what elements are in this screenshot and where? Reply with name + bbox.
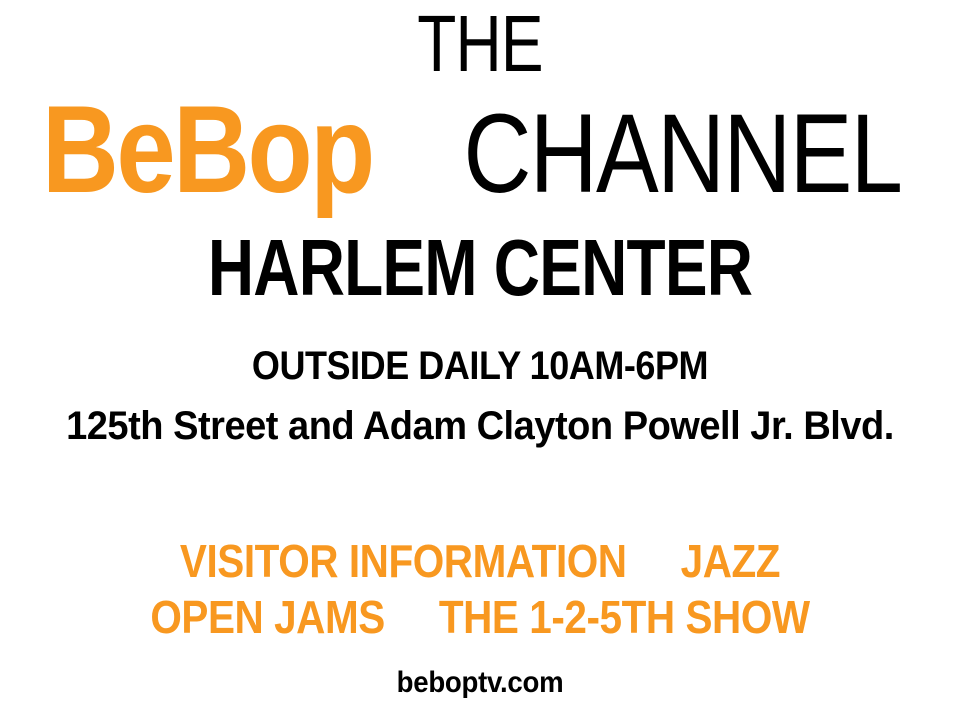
brand-suffix-channel: CHANNEL <box>439 98 901 210</box>
website-url: beboptv.com <box>38 668 921 698</box>
headline-the: THE <box>96 4 864 84</box>
features-line-2: OPEN JAMS THE 1-2-5TH SHOW <box>58 594 903 640</box>
brand-name-bebop: BeBop <box>41 88 372 212</box>
features-line-1: VISITOR INFORMATION JAZZ <box>58 538 903 584</box>
venue-name: HARLEM CENTER <box>96 228 864 308</box>
headline-brand-line: BeBop CHANNEL <box>0 88 960 212</box>
opening-hours: OUTSIDE DAILY 10AM-6PM <box>48 346 912 386</box>
poster-canvas: THE BeBop CHANNEL HARLEM CENTER OUTSIDE … <box>0 0 960 720</box>
street-address: 125th Street and Adam Clayton Powell Jr.… <box>24 406 936 446</box>
